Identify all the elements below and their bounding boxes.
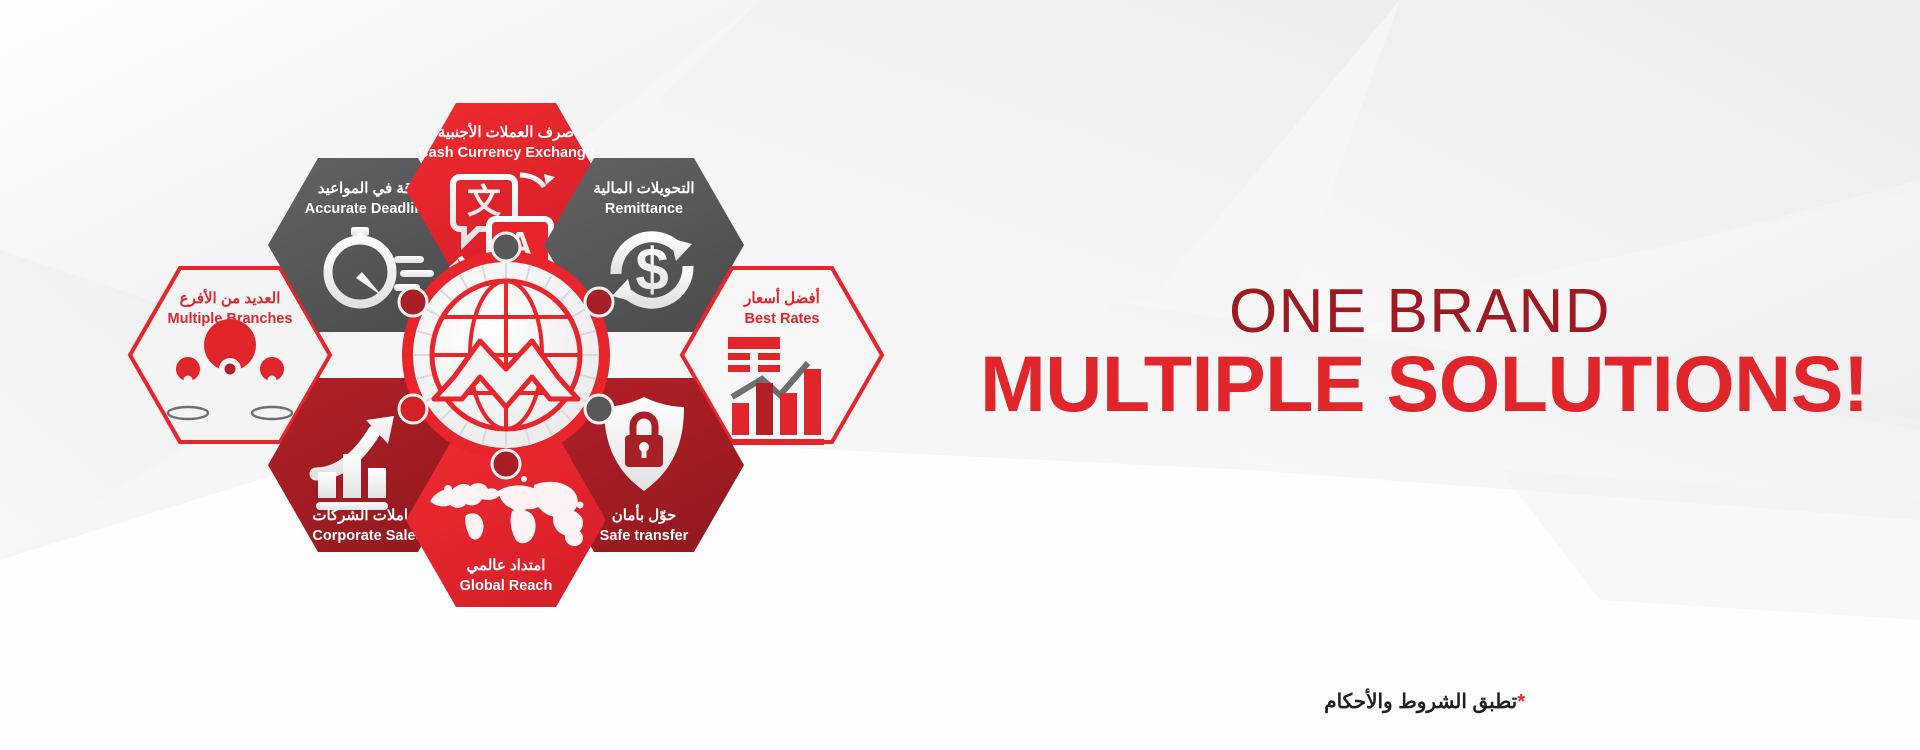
node-lower-left — [399, 395, 427, 423]
svg-text:$: $ — [635, 236, 668, 303]
node-top — [492, 233, 520, 261]
hexagon-cluster-svg: العديد من الأفرع Multiple Branches دقة ف… — [110, 55, 940, 695]
node-lower-right — [585, 395, 613, 423]
hex-safe-transfer-arabic: حوّل بأمان — [612, 504, 676, 524]
hex-safe-transfer-english: Safe transfer — [600, 528, 689, 544]
headline-line-one: ONE BRAND — [980, 280, 1860, 343]
hex-remittance-english: Remittance — [605, 201, 683, 217]
hex-remittance-arabic: التحويلات المالية — [593, 180, 694, 197]
hex-best-rates-english: Best Rates — [745, 311, 820, 327]
disclaimer-asterisk: * — [1517, 691, 1525, 713]
terms-disclaimer: *تطبق الشروط والأحكام — [1324, 689, 1525, 714]
headline-line-two: MULTIPLE SOLUTIONS! — [980, 343, 1860, 426]
globe-m-monogram-icon — [432, 281, 580, 429]
disclaimer-text: تطبق الشروط والأحكام — [1324, 691, 1517, 713]
hexagon-cluster: العديد من الأفرع Multiple Branches دقة ف… — [110, 55, 940, 695]
central-logo[interactable] — [402, 251, 610, 459]
hex-best-rates-arabic: أفضل أسعار — [743, 287, 820, 307]
hex-global-reach-english: Global Reach — [460, 578, 553, 594]
hex-cash-currency-exchange-arabic: صرف العملات الأجنبية — [438, 122, 574, 141]
hex-global-reach-arabic: امتداد عالمي — [467, 557, 546, 575]
hex-corporate-sales-english: Corporate Sales — [312, 528, 423, 544]
node-upper-right — [585, 288, 613, 316]
headline-block: ONE BRAND MULTIPLE SOLUTIONS! — [980, 280, 1860, 426]
svg-text:文: 文 — [467, 182, 501, 222]
hex-cash-currency-exchange-english: Cash Currency Exchange — [418, 145, 594, 161]
node-bottom — [492, 450, 520, 478]
node-upper-left — [399, 288, 427, 316]
hex-multiple-branches-arabic: العديد من الأفرع — [180, 288, 281, 307]
hex-accurate-deadline-english: Accurate Deadline — [305, 201, 432, 217]
hex-accurate-deadline-arabic: دقة في المواعيد — [318, 180, 419, 198]
